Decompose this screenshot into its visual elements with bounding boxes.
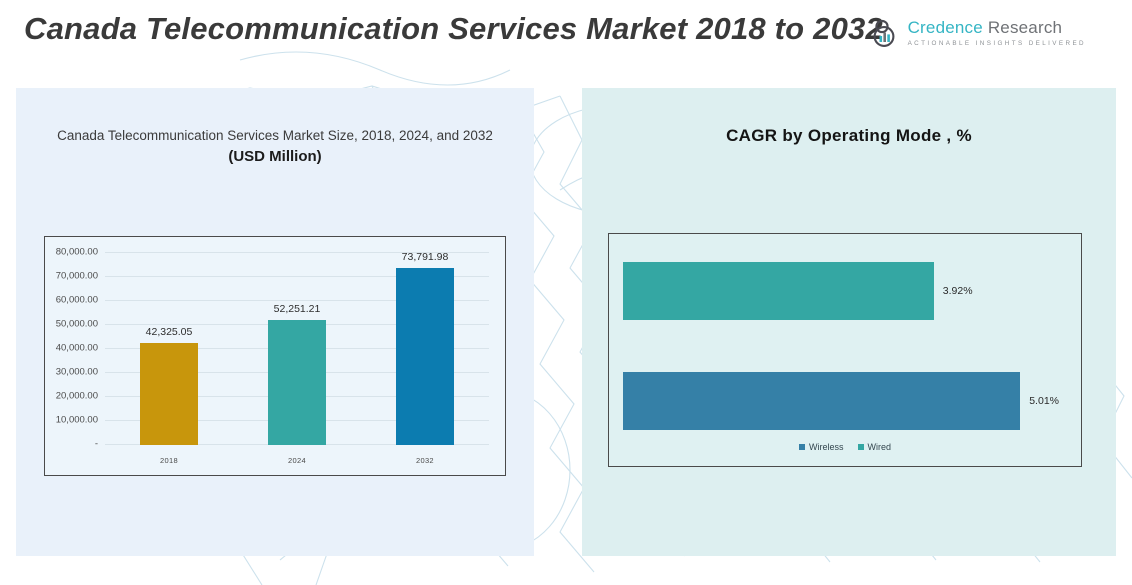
- y-axis-tick-label: 80,000.00: [56, 247, 98, 258]
- y-axis-tick-label: 70,000.00: [56, 271, 98, 282]
- bar-value-label: 52,251.21: [274, 303, 321, 315]
- legend-item[interactable]: Wired: [858, 442, 892, 452]
- bar-group: 42,325.0552,251.2173,791.98: [105, 253, 489, 445]
- market-size-x-axis: 201820242032: [105, 456, 489, 465]
- cagr-value-label: 5.01%: [1029, 395, 1059, 407]
- bar-column: 42,325.05: [106, 253, 233, 445]
- logo-name-primary: Credence: [908, 18, 983, 37]
- right-panel: CAGR by Operating Mode , % 3.92%5.01% Wi…: [582, 88, 1116, 556]
- page-title: Canada Telecommunication Services Market…: [24, 8, 914, 49]
- market-size-bar-chart: -10,000.0020,000.0030,000.0040,000.0050,…: [44, 236, 506, 476]
- right-chart-title: CAGR by Operating Mode , %: [582, 126, 1116, 146]
- bar-chart-circle-icon: [871, 18, 901, 48]
- legend-item[interactable]: Wireless: [799, 442, 844, 452]
- legend-swatch: [858, 444, 864, 450]
- bar[interactable]: 42,325.05: [140, 343, 198, 445]
- legend-label: Wireless: [809, 442, 844, 452]
- cagr-bar[interactable]: [623, 262, 934, 320]
- legend-swatch: [799, 444, 805, 450]
- logo-name-secondary: Research: [983, 18, 1062, 37]
- cagr-bar-chart: 3.92%5.01% WirelessWired: [608, 233, 1082, 467]
- y-axis-tick-label: 40,000.00: [56, 343, 98, 354]
- x-axis-tick-label: 2024: [233, 456, 361, 465]
- left-chart-subtitle: Canada Telecommunication Services Market…: [16, 128, 534, 143]
- y-axis-tick-label: -: [95, 439, 98, 450]
- x-axis-tick-label: 2032: [361, 456, 489, 465]
- cagr-bar[interactable]: [623, 372, 1020, 430]
- bar-value-label: 42,325.05: [146, 326, 193, 338]
- bar-column: 73,791.98: [362, 253, 489, 445]
- cagr-value-label: 3.92%: [943, 285, 973, 297]
- y-axis-tick-label: 30,000.00: [56, 367, 98, 378]
- cagr-legend: WirelessWired: [609, 442, 1081, 452]
- header: Canada Telecommunication Services Market…: [0, 0, 1132, 88]
- market-size-plot-area: -10,000.0020,000.0030,000.0040,000.0050,…: [105, 253, 489, 445]
- x-axis-tick-label: 2018: [105, 456, 233, 465]
- y-axis-tick-label: 60,000.00: [56, 295, 98, 306]
- cagr-bar-row: 5.01%: [623, 372, 1067, 430]
- cagr-bar-row: 3.92%: [623, 262, 1067, 320]
- bar[interactable]: 52,251.21: [268, 320, 326, 445]
- left-panel: Canada Telecommunication Services Market…: [16, 88, 534, 556]
- logo-tagline: Actionable Insights Delivered: [908, 40, 1086, 47]
- bar-value-label: 73,791.98: [402, 251, 449, 263]
- brand-logo: Credence Research Actionable Insights De…: [871, 18, 1086, 48]
- y-axis-tick-label: 50,000.00: [56, 319, 98, 330]
- legend-label: Wired: [868, 442, 892, 452]
- cagr-plot-area: 3.92%5.01%: [623, 254, 1067, 420]
- left-chart-unit: (USD Million): [16, 148, 534, 165]
- logo-name: Credence Research: [908, 19, 1086, 38]
- logo-text: Credence Research Actionable Insights De…: [908, 19, 1086, 47]
- bar-column: 52,251.21: [234, 253, 361, 445]
- y-axis-tick-label: 20,000.00: [56, 391, 98, 402]
- bar[interactable]: 73,791.98: [396, 268, 454, 445]
- infographic-canvas: Canada Telecommunication Services Market…: [0, 0, 1132, 585]
- y-axis-tick-label: 10,000.00: [56, 415, 98, 426]
